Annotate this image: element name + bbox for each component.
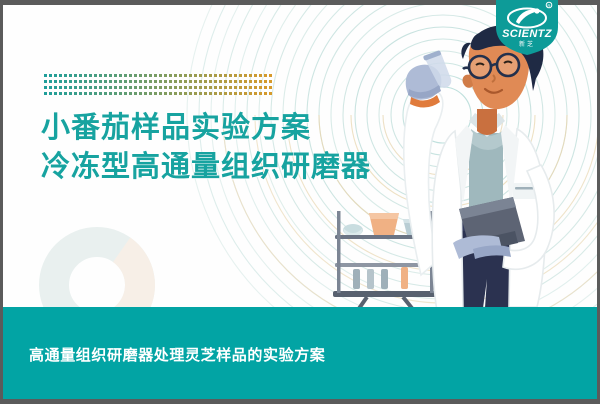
dot-grid-accent [44, 74, 274, 98]
frame-bottom-rail [0, 399, 600, 404]
svg-text:新芝: 新芝 [519, 40, 535, 48]
frame-left-rail [0, 0, 3, 404]
svg-text:SCIENTZ: SCIENTZ [502, 28, 553, 40]
poster-stage: 小番茄样品实验方案 冷冻型高通量组织研磨器 高通量组织研磨器处理灵芝样品的实验方… [3, 5, 597, 399]
banner-caption: 高通量组织研磨器处理灵芝样品的实验方案 [29, 344, 325, 365]
scientz-shield-logo[interactable]: R SCIENTZ 新芝 [492, 0, 562, 55]
bottom-banner: 高通量组织研磨器处理灵芝样品的实验方案 [3, 307, 597, 399]
poster-canvas: 小番茄样品实验方案 冷冻型高通量组织研磨器 高通量组织研磨器处理灵芝样品的实验方… [0, 0, 600, 404]
